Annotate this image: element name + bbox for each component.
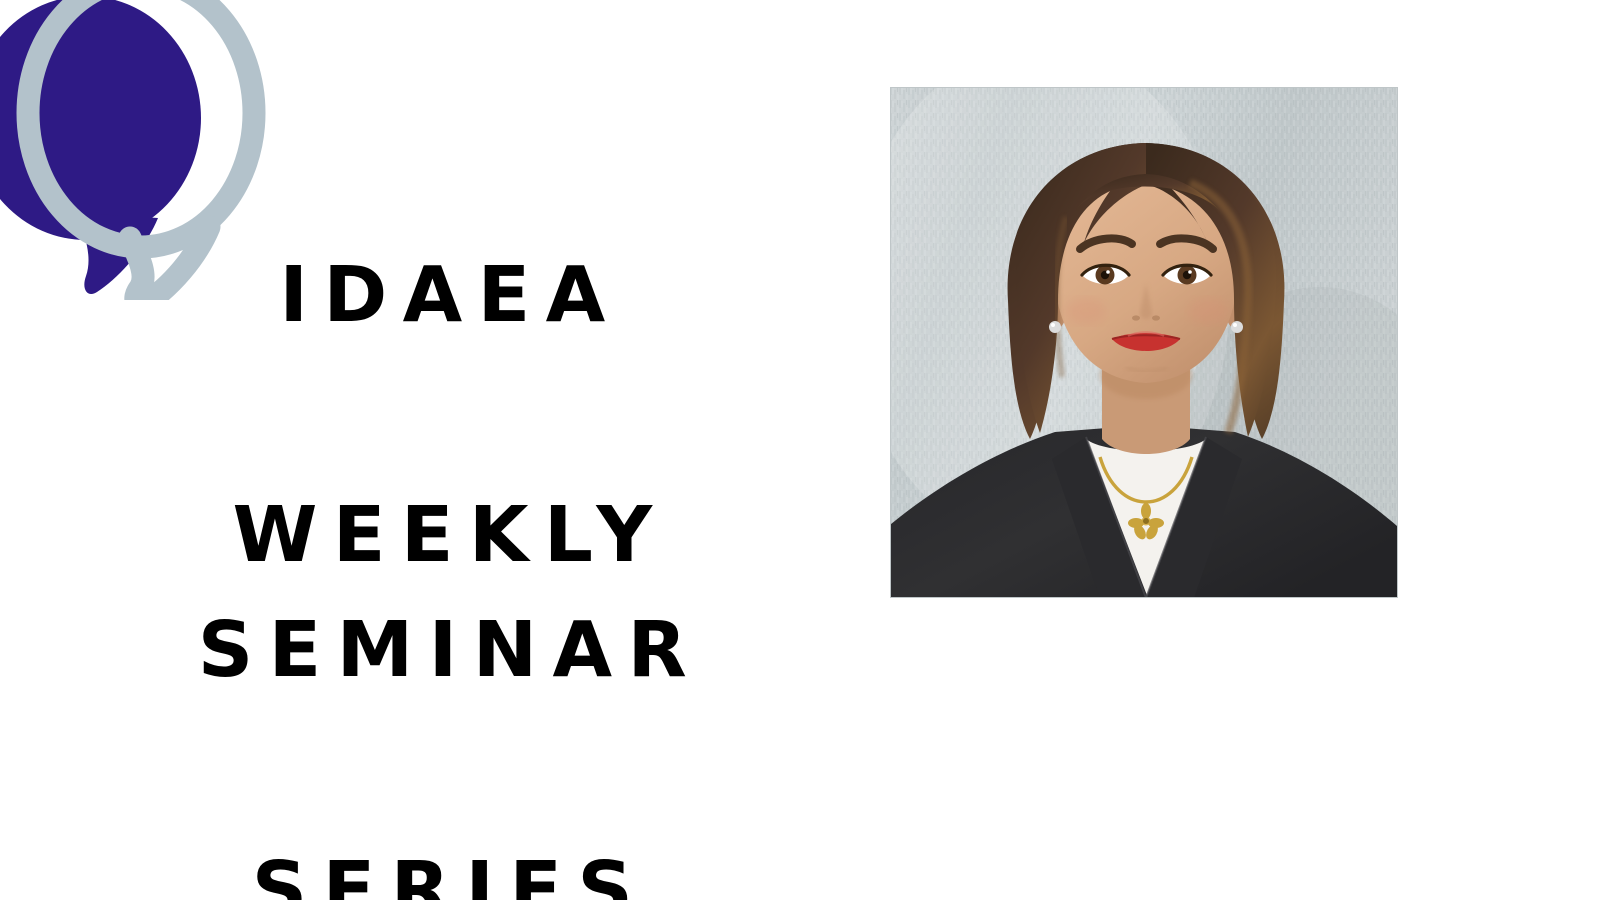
earring-left — [1049, 321, 1061, 333]
series-title-line-2: SERIES — [130, 852, 770, 900]
series-title: SEMINAR SERIES — [130, 455, 770, 900]
speaker-portrait: Portrait of a woman with shoulder-length… — [890, 87, 1398, 598]
earring-right — [1231, 321, 1243, 333]
masthead-line-1: IDAEA — [130, 257, 770, 336]
slide-canvas: IDAEA WEEKLY SEMINAR SERIES — [0, 0, 1600, 900]
series-title-line-1: SEMINAR — [130, 612, 770, 691]
